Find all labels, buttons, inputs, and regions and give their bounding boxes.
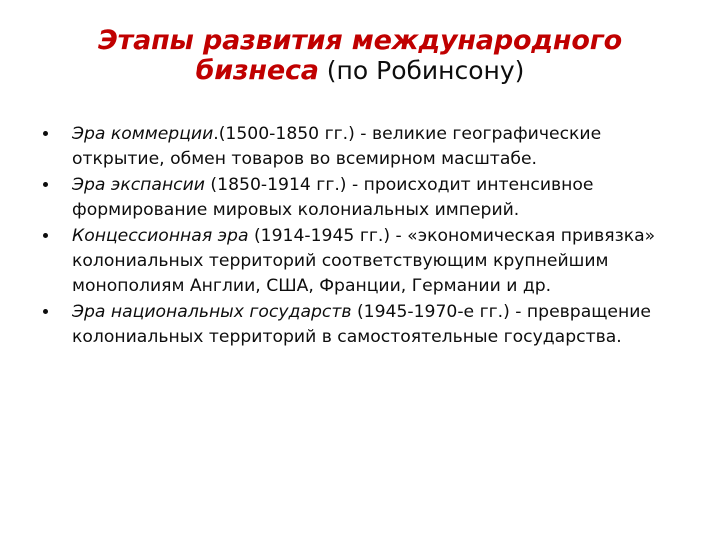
list-item: Эра коммерции.(1500-1850 гг.) - великие … [34,122,684,172]
bullet-dot-icon [43,233,48,238]
list-item: Эра национальных государств (1945-1970-е… [34,300,684,350]
list-item-term: Эра экспансии [72,175,205,195]
title-line-1: Этапы развития международного [20,26,700,56]
bullet-dot-icon [43,131,48,136]
bullet-dot-icon [43,309,48,314]
slide-title: Этапы развития международного бизнеса (п… [20,26,700,86]
bullet-dot-icon [43,182,48,187]
title-line-2-accent-text: бизнеса [196,55,319,86]
list-item: Концессионная эра (1914-1945 гг.) - «эко… [34,224,684,299]
list-item-term: Концессионная эра [72,226,249,246]
list-item-term: Эра коммерции [72,124,213,144]
presentation-slide: Этапы развития международного бизнеса (п… [0,0,720,540]
title-line-1-text: Этапы развития международного [98,25,622,56]
bullet-list: Эра коммерции.(1500-1850 гг.) - великие … [34,122,684,351]
list-item-term: Эра национальных государств [72,302,351,322]
title-line-2: бизнеса (по Робинсону) [20,56,700,86]
list-item: Эра экспансии (1850-1914 гг.) - происход… [34,173,684,223]
title-line-2-author-text: (по Робинсону) [319,56,525,85]
